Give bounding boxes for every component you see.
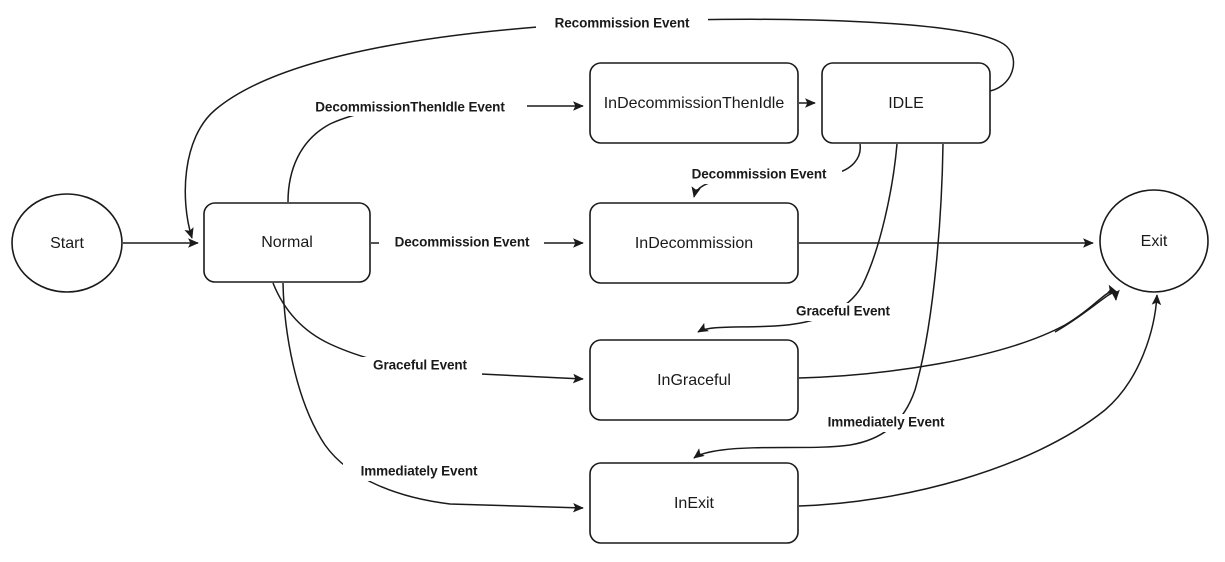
node-indecommissionthenidle[interactable]: InDecommissionThenIdle [590,63,798,143]
edge-label-graceful-event-normal: Graceful Event [358,357,482,375]
edge-label-recommission-event: Recommission Event [536,14,708,32]
edge-label-recommission-event-text: Recommission Event [555,16,690,31]
node-exit-label: Exit [1141,233,1168,250]
node-start-label: Start [50,235,84,252]
node-normal-label: Normal [261,234,313,251]
edge-label-immediately-event-normal: Immediately Event [343,463,495,481]
node-inexit[interactable]: InExit [590,463,798,543]
edge-label-graceful-event-idle: Graceful Event [786,303,900,321]
edge-label-decommission-event-normal: Decommission Event [379,234,544,252]
node-ingraceful[interactable]: InGraceful [590,340,798,420]
edge-ingraceful-to-exit-head [1055,292,1117,332]
edge-label-decommission-event-normal-text: Decommission Event [395,235,530,250]
edge-label-decommissionthenidle-event-text: DecommissionThenIdle Event [315,100,505,115]
node-indecommissionthenidle-label: InDecommissionThenIdle [604,95,785,112]
state-diagram-canvas: Start Normal InDecommissionThenIdle IDLE… [0,0,1225,562]
edge-label-decommission-event-idle-text: Decommission Event [692,167,827,182]
edge-inexit-to-exit [799,295,1157,506]
nodes-layer: Start Normal InDecommissionThenIdle IDLE… [12,63,1208,543]
edge-label-immediately-event-idle-text: Immediately Event [828,415,945,430]
edge-label-immediately-event-idle: Immediately Event [810,414,962,432]
edge-label-graceful-event-idle-text: Graceful Event [796,304,890,319]
node-inexit-label: InExit [674,495,715,512]
edge-label-decommissionthenidle-event: DecommissionThenIdle Event [293,98,527,116]
node-normal[interactable]: Normal [204,203,370,282]
node-indecommission-label: InDecommission [635,235,753,252]
node-indecommission[interactable]: InDecommission [590,203,798,283]
node-start[interactable]: Start [12,194,122,292]
state-machine-diagram: Start Normal InDecommissionThenIdle IDLE… [0,0,1225,562]
node-idle[interactable]: IDLE [822,63,990,143]
node-exit[interactable]: Exit [1100,190,1208,292]
node-idle-label: IDLE [888,95,924,112]
node-ingraceful-label: InGraceful [657,372,731,389]
edge-label-decommission-event-idle: Decommission Event [676,166,842,184]
edge-label-immediately-event-normal-text: Immediately Event [361,464,478,479]
edge-normal-to-indecommissionthenidle [288,106,583,202]
edge-label-graceful-event-normal-text: Graceful Event [373,358,467,373]
